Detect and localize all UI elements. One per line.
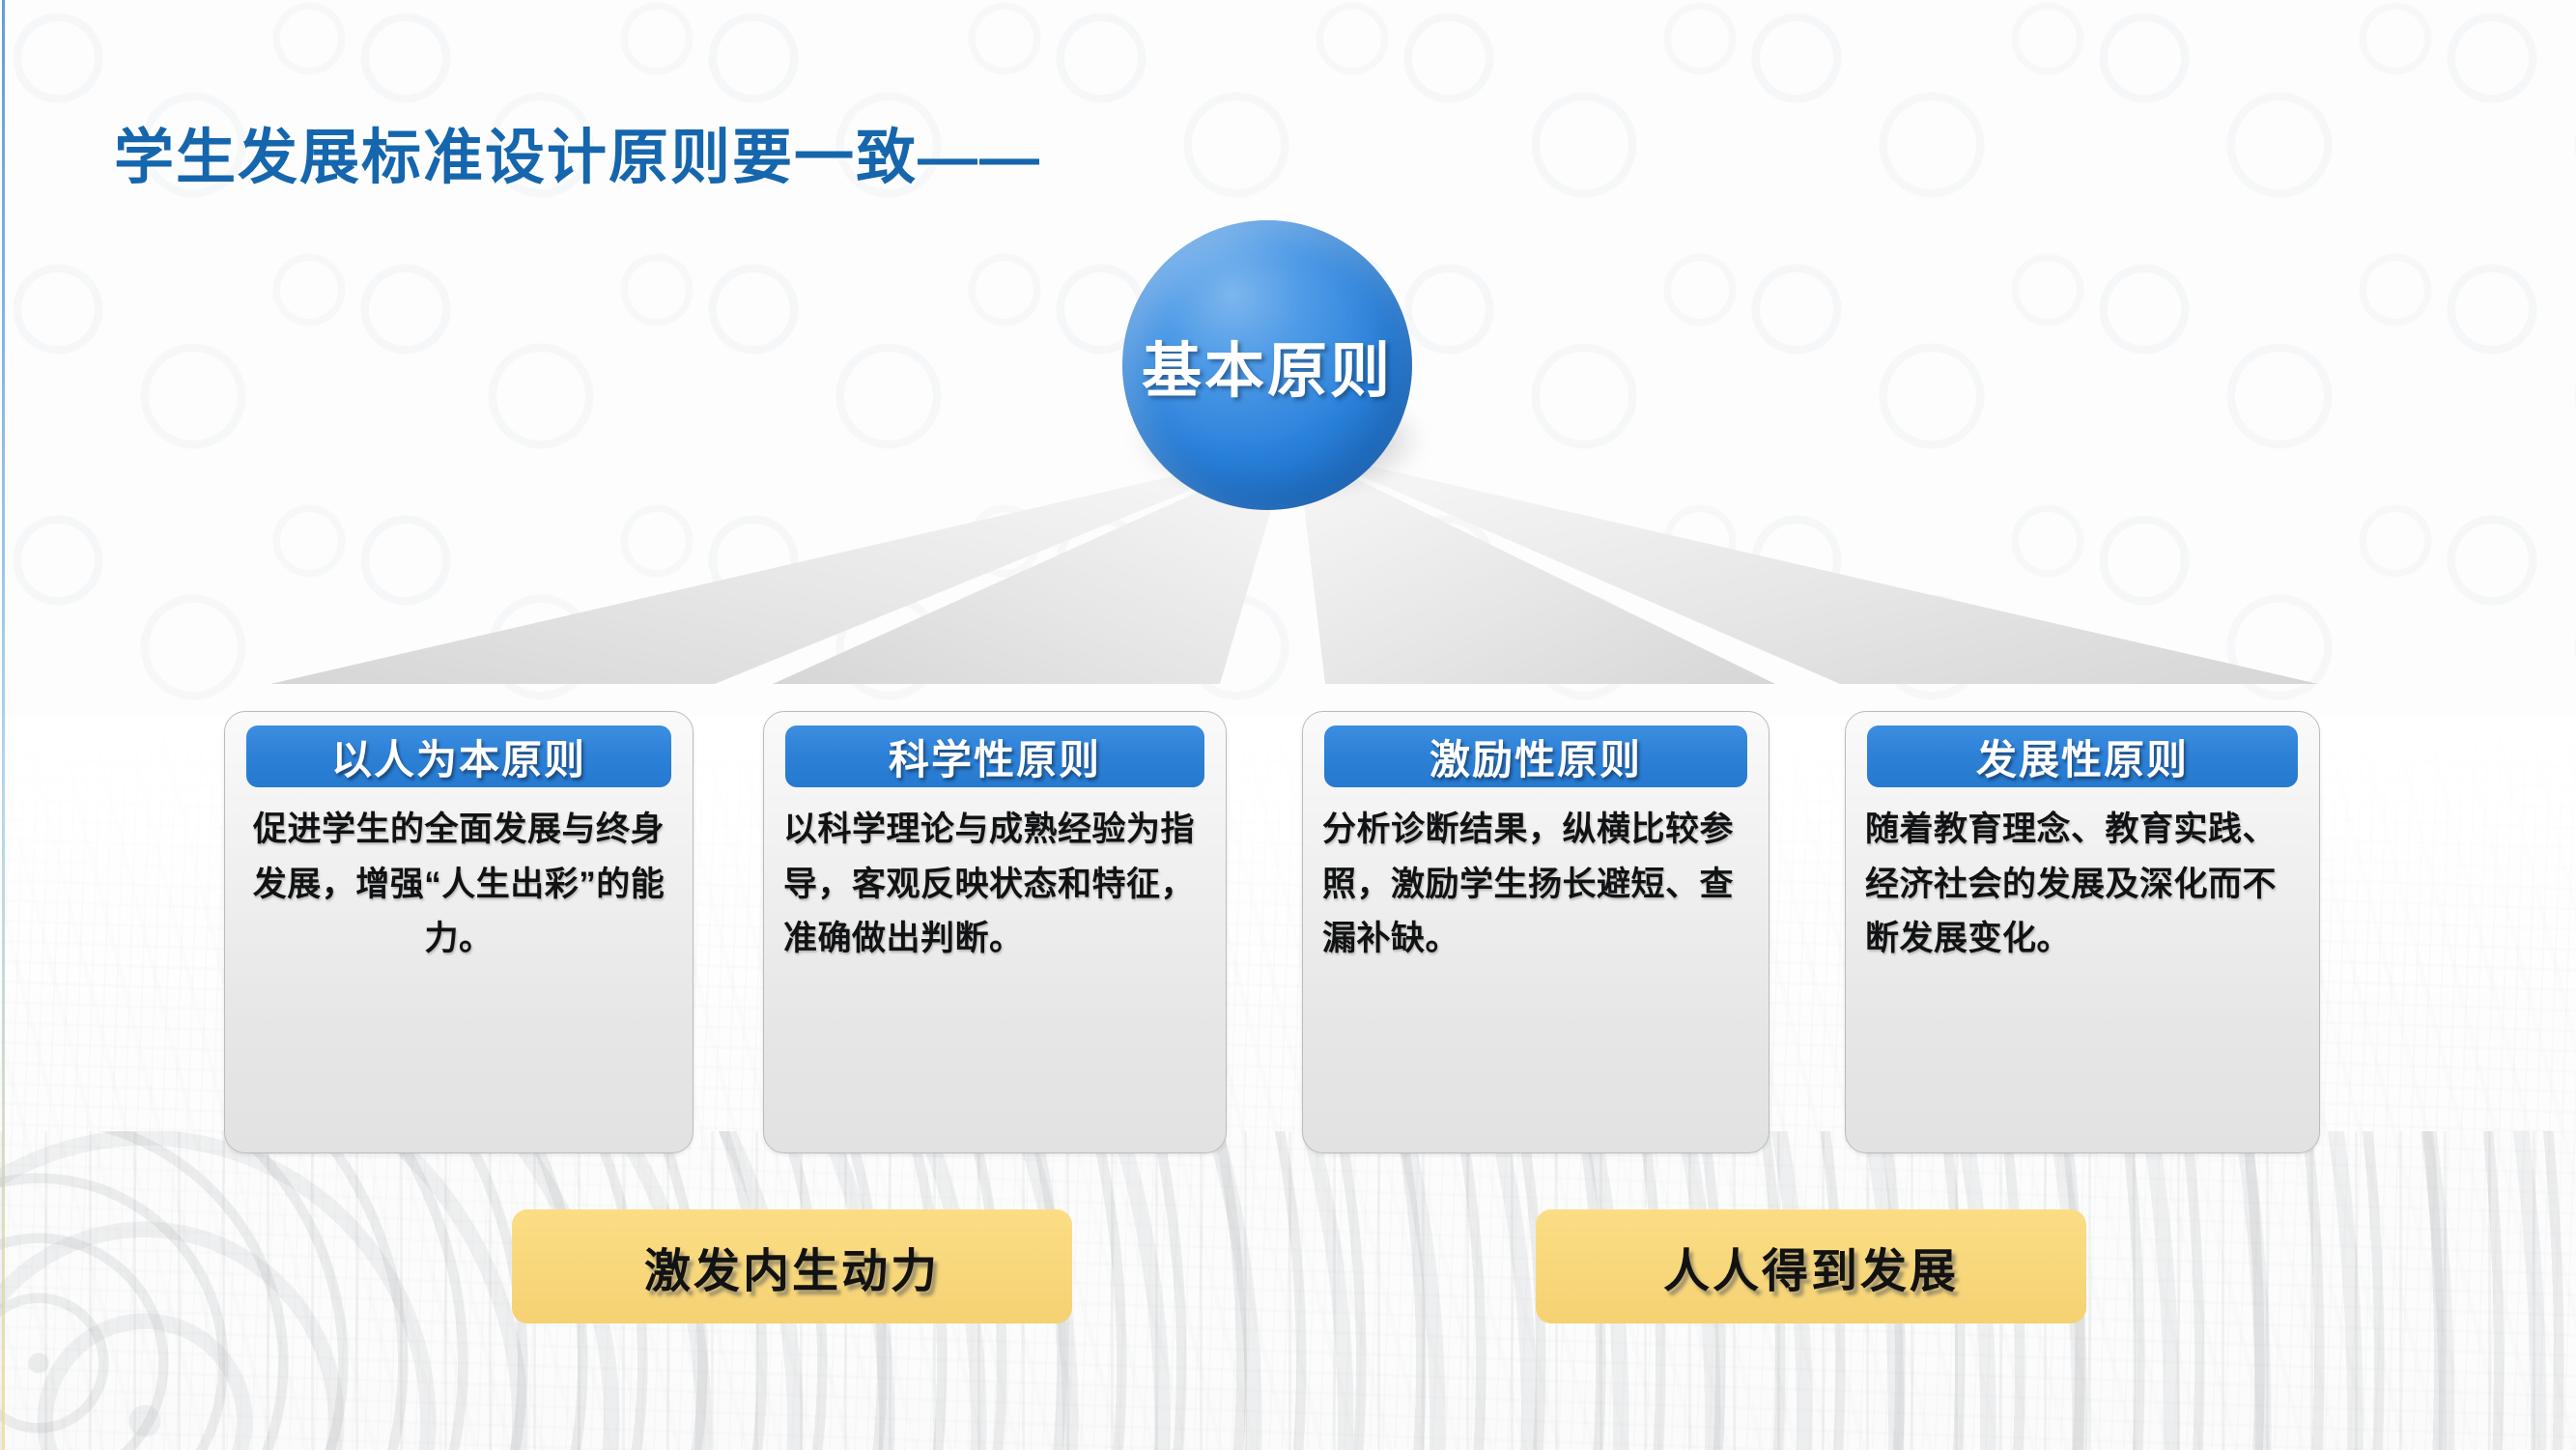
- principle-card-4[interactable]: 发展性原则 随着教育理念、教育实践、经济社会的发展及深化而不断发展变化。: [1845, 711, 2320, 1153]
- principle-card-1-header: 以人为本原则: [246, 725, 671, 787]
- principle-card-2-title: 科学性原则: [889, 727, 1101, 786]
- outcome-banner-2-label: 人人得到发展: [1663, 1233, 1959, 1300]
- outcome-banner-1-label: 激发内生动力: [644, 1233, 940, 1300]
- principle-card-3[interactable]: 激励性原则 分析诊断结果，纵横比较参照，激励学生扬长避短、查漏补缺。: [1302, 711, 1769, 1153]
- principle-card-4-header: 发展性原则: [1867, 725, 2298, 787]
- principle-card-4-title: 发展性原则: [1976, 727, 2189, 786]
- background-tree-line: [0, 1131, 2576, 1450]
- principle-card-2-body: 以科学理论与成熟经验为指导，客观反映状态和特征，准确做出判断。: [783, 803, 1206, 967]
- left-edge-rule: [2, 0, 5, 1450]
- principle-card-2-header: 科学性原则: [785, 725, 1204, 787]
- outcome-banner-1[interactable]: 激发内生动力: [512, 1209, 1072, 1323]
- principle-card-1[interactable]: 以人为本原则 促进学生的全面发展与终身发展，增强“人生出彩”的能力。: [224, 711, 694, 1153]
- slide-canvas: 学生发展标准设计原则要一致—— 基本原则 以人为本原则: [0, 0, 2576, 1450]
- principle-card-3-header: 激励性原则: [1324, 725, 1747, 787]
- principle-card-1-body: 促进学生的全面发展与终身发展，增强“人生出彩”的能力。: [244, 803, 673, 967]
- center-node-label: 基本原则: [1142, 322, 1393, 409]
- center-node-sphere: 基本原则: [1122, 220, 1412, 510]
- center-node: 基本原则: [1111, 220, 1430, 510]
- principle-card-3-title: 激励性原则: [1430, 727, 1642, 786]
- principle-card-2[interactable]: 科学性原则 以科学理论与成熟经验为指导，客观反映状态和特征，准确做出判断。: [763, 711, 1227, 1153]
- principle-card-1-title: 以人为本原则: [331, 727, 586, 786]
- outcome-banner-2[interactable]: 人人得到发展: [1536, 1209, 2086, 1323]
- slide-title: 学生发展标准设计原则要一致——: [114, 108, 1041, 195]
- principle-card-4-body: 随着教育理念、教育实践、经济社会的发展及深化而不断发展变化。: [1865, 803, 2300, 967]
- principle-card-3-body: 分析诊断结果，纵横比较参照，激励学生扬长避短、查漏补缺。: [1322, 803, 1749, 967]
